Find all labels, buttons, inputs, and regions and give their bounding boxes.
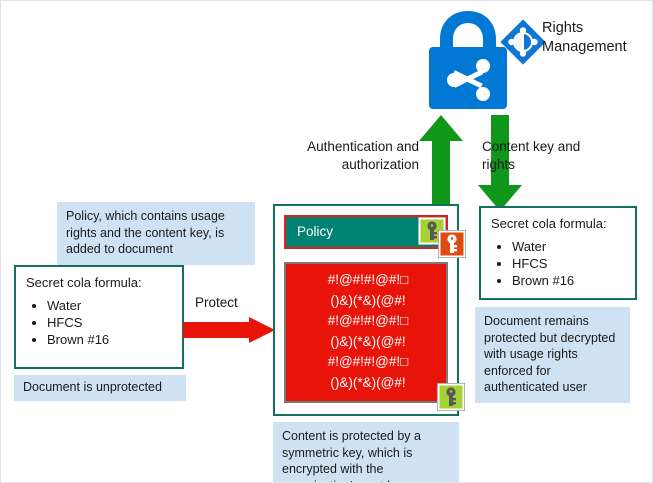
protect-label: Protect xyxy=(195,295,265,310)
list-item: Brown #16 xyxy=(512,272,635,289)
authentication-arrow-label: Authentication and authorization xyxy=(301,138,419,174)
encrypted-content-box: #!@#!#!@#!□ ()&)(*&)(@#! #!@#!#!@#!□ ()&… xyxy=(284,262,448,403)
callout-document-unprotected: Document is unprotected xyxy=(14,375,186,401)
policy-label: Policy xyxy=(297,224,333,239)
padlock-share-icon xyxy=(427,7,509,111)
protect-arrow-right xyxy=(183,317,275,343)
list-item: Water xyxy=(47,297,182,314)
key-orange-icon xyxy=(438,230,466,258)
callout-policy-added: Policy, which contains usage rights and … xyxy=(57,202,255,265)
callout-symmetric-key: Content is protected by a symmetric key,… xyxy=(273,422,459,483)
diagram-canvas: Rights Management Authentication and aut… xyxy=(0,0,653,483)
callout-document-remains: Document remains protected but decrypted… xyxy=(475,307,630,403)
document-right-ingredients: Water HFCS Brown #16 xyxy=(481,238,635,289)
document-unprotected: Secret cola formula: Water HFCS Brown #1… xyxy=(14,265,184,369)
list-item: Brown #16 xyxy=(47,331,182,348)
document-decrypted: Secret cola formula: Water HFCS Brown #1… xyxy=(479,206,637,300)
document-left-title: Secret cola formula: xyxy=(16,267,182,290)
authentication-arrow-up xyxy=(419,115,463,211)
list-item: HFCS xyxy=(47,314,182,331)
list-item: Water xyxy=(512,238,635,255)
key-green-icon xyxy=(437,383,465,411)
encrypted-content-text: #!@#!#!@#!□ ()&)(*&)(@#! #!@#!#!@#!□ ()&… xyxy=(286,270,450,393)
list-item: HFCS xyxy=(512,255,635,272)
content-key-arrow-label: Content key and rights xyxy=(482,138,602,174)
document-left-ingredients: Water HFCS Brown #16 xyxy=(16,297,182,348)
rights-management-label: Rights Management xyxy=(542,19,650,57)
azure-active-directory-icon xyxy=(498,17,548,67)
document-right-title: Secret cola formula: xyxy=(481,208,635,231)
